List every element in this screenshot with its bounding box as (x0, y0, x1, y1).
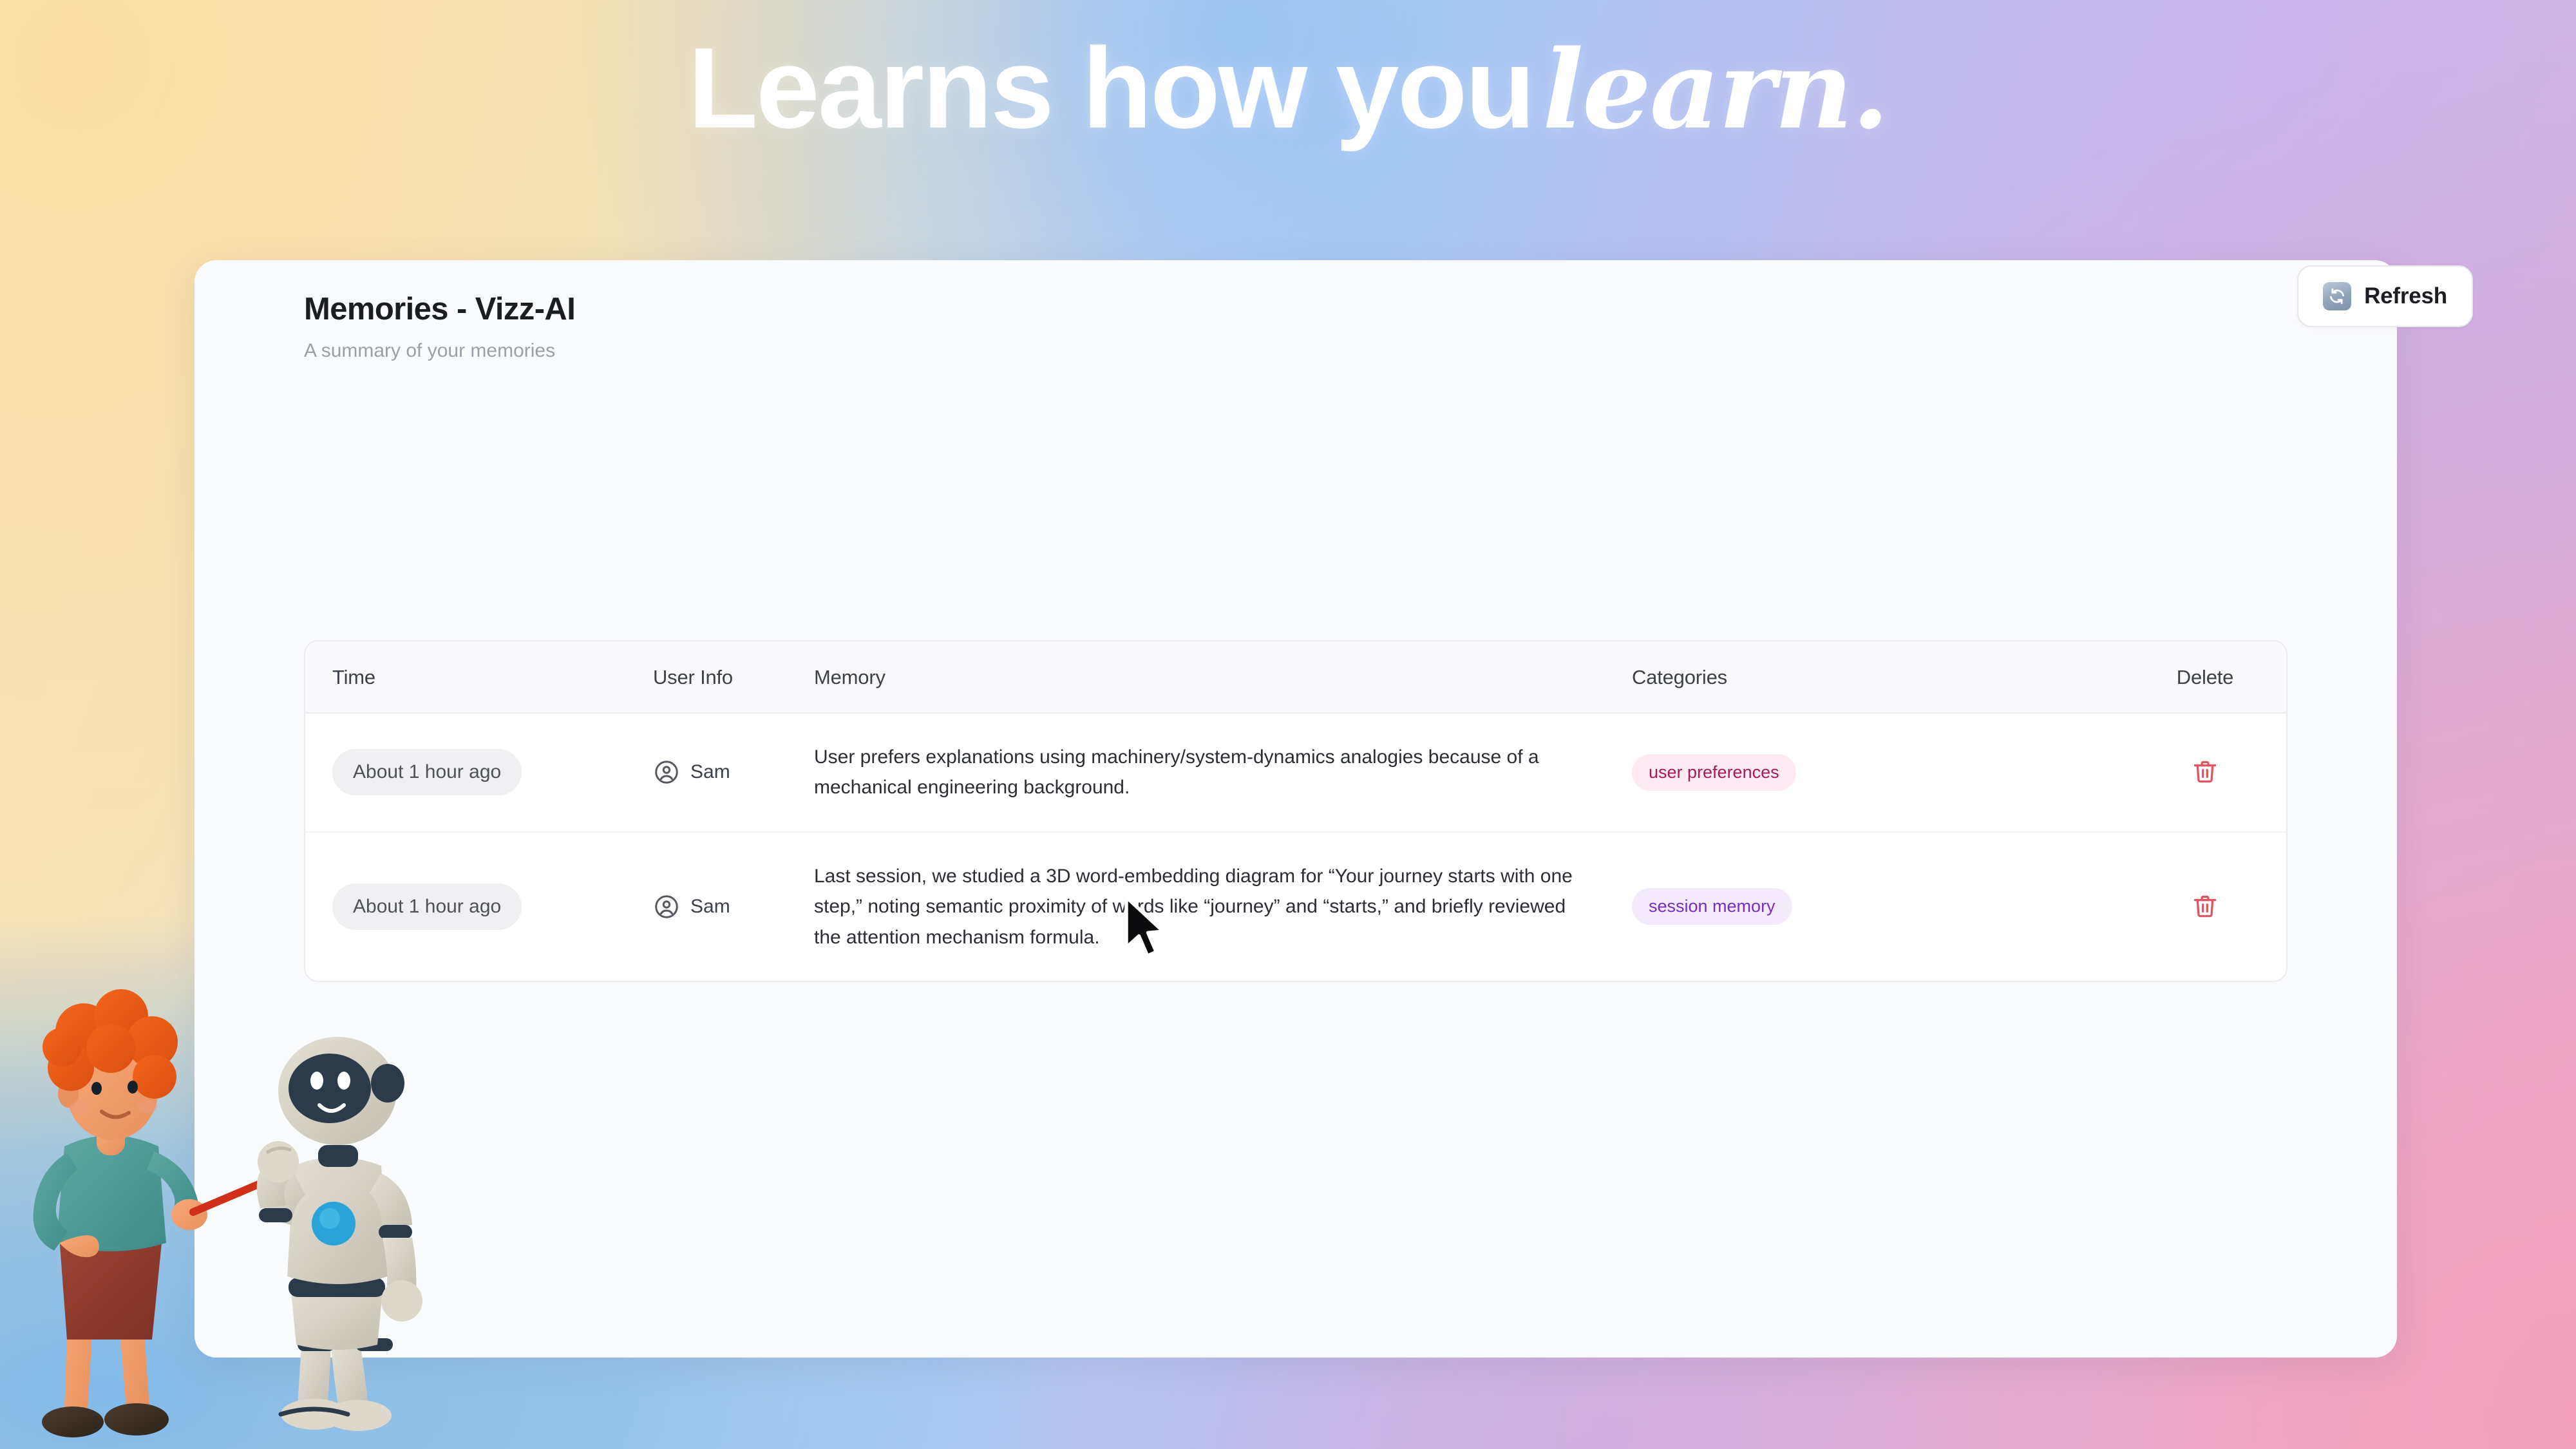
cell-delete (2121, 713, 2287, 832)
table-row[interactable]: About 1 hour ago (305, 832, 2287, 981)
cell-user-info: Sam (653, 832, 814, 981)
table-header-row: Time User Info Memory Categories Delete (305, 641, 2287, 713)
delete-row-button[interactable] (2185, 752, 2225, 792)
category-badge[interactable]: session memory (1632, 888, 1792, 925)
user-circle-icon (653, 893, 680, 920)
memory-text: Last session, we studied a 3D word-embed… (814, 861, 1580, 952)
user-circle-icon (653, 759, 680, 786)
column-header-time[interactable]: Time (305, 641, 653, 713)
cell-memory: User prefers explanations using machiner… (814, 713, 1632, 832)
user-name: Sam (690, 761, 730, 783)
page-background: Learns how youlearn. Memories - Vizz-AI … (0, 0, 2576, 1449)
memories-table: Time User Info Memory Categories Delete … (304, 640, 2287, 982)
table-row[interactable]: About 1 hour ago (305, 713, 2287, 832)
hero-headline: Learns how youlearn. (0, 31, 2576, 146)
delete-row-button[interactable] (2185, 887, 2225, 927)
refresh-button-label: Refresh (2364, 283, 2447, 309)
cell-time: About 1 hour ago (305, 713, 653, 832)
trash-icon (2191, 758, 2219, 786)
refresh-button[interactable]: Refresh (2297, 265, 2473, 327)
time-badge: About 1 hour ago (332, 884, 522, 930)
memory-text: User prefers explanations using machiner… (814, 742, 1580, 803)
page-subtitle: A summary of your memories (304, 340, 2360, 362)
memories-card: Memories - Vizz-AI A summary of your mem… (194, 260, 2397, 1358)
user-name: Sam (690, 896, 730, 918)
cell-user-info: Sam (653, 713, 814, 832)
category-badge[interactable]: user preferences (1632, 754, 1796, 791)
cell-memory: Last session, we studied a 3D word-embed… (814, 832, 1632, 981)
time-badge: About 1 hour ago (332, 749, 522, 795)
headline-main-text: Learns how you (688, 24, 1533, 152)
column-header-memory[interactable]: Memory (814, 641, 1632, 713)
cell-categories: session memory (1632, 832, 2121, 981)
column-header-delete[interactable]: Delete (2121, 641, 2287, 713)
column-header-user-info[interactable]: User Info (653, 641, 814, 713)
cell-categories: user preferences (1632, 713, 2121, 832)
trash-icon (2191, 893, 2219, 921)
refresh-icon (2323, 282, 2351, 310)
card-header: Memories - Vizz-AI A summary of your mem… (194, 260, 2397, 362)
column-header-categories[interactable]: Categories (1632, 641, 2121, 713)
headline-emphasis-text: learn. (1542, 26, 1888, 153)
cell-delete (2121, 832, 2287, 981)
cell-time: About 1 hour ago (305, 832, 653, 981)
page-title: Memories - Vizz-AI (304, 291, 2360, 327)
